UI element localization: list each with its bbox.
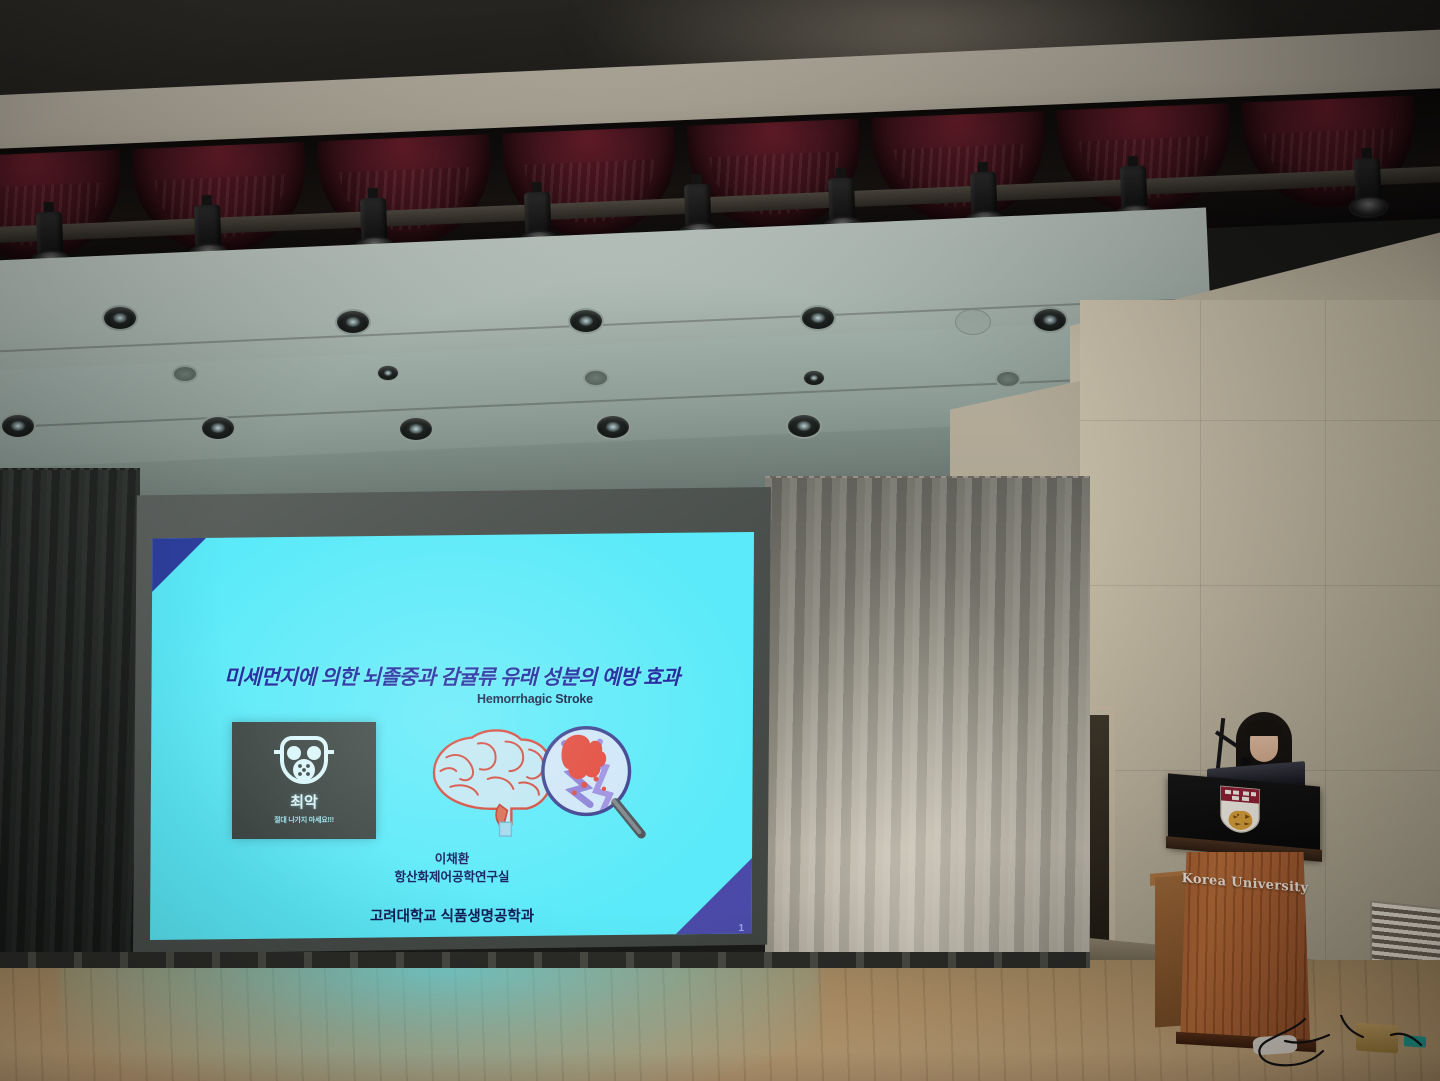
ceiling-speaker-grill xyxy=(172,365,198,383)
slide-corner-top-left xyxy=(150,532,212,594)
presenter-block: 이채환 항산화제어공학연구실 xyxy=(150,850,754,886)
korea-university-crest xyxy=(1219,784,1261,836)
presenter-name: 이채환 xyxy=(150,850,754,868)
brain-illustration xyxy=(415,714,655,842)
stage-spotlight xyxy=(1345,157,1391,220)
ceiling-downlight xyxy=(335,309,371,335)
stage-front-edge xyxy=(0,952,1090,968)
ceiling-downlight-small xyxy=(377,365,399,381)
ceiling-blank-plate xyxy=(955,309,991,335)
gas-mask-icon xyxy=(272,732,336,788)
red-valance-swag xyxy=(317,134,493,249)
lab-name: 항산화제어공학연구실 xyxy=(150,868,754,886)
projection-screen[interactable]: 1 미세먼지에 의한 뇌졸중과 감귤류 유래 성분의 예방 효과 xyxy=(150,532,754,940)
ceiling-speaker-grill xyxy=(583,369,609,387)
ceiling-downlight xyxy=(595,414,631,440)
ceiling-speaker-grill xyxy=(995,370,1021,388)
ceiling-downlight xyxy=(1032,307,1068,333)
stage-curtain-right xyxy=(765,478,1090,1008)
ceiling-downlight xyxy=(200,415,236,441)
wall-panel-seam xyxy=(1080,420,1440,421)
ceiling-downlight xyxy=(786,413,822,439)
ceiling-downlight-small xyxy=(803,370,825,386)
ceiling-downlight xyxy=(568,308,604,334)
ceiling-downlight xyxy=(398,416,434,442)
presenter-bangs xyxy=(1246,720,1282,736)
floor-cables xyxy=(1245,1015,1435,1077)
red-valance-swag xyxy=(1241,95,1417,210)
presentation-slide: 1 미세먼지에 의한 뇌졸중과 감귤류 유래 성분의 예방 효과 xyxy=(150,532,754,940)
ceiling-downlight xyxy=(0,413,36,439)
ceiling-downlight xyxy=(102,305,138,331)
department-line: 고려대학교 식품생명공학과 xyxy=(150,905,754,926)
ceiling-downlight xyxy=(800,305,836,331)
slide-title: 미세먼지에 의한 뇌졸중과 감귤류 유래 성분의 예방 효과 xyxy=(150,660,754,690)
stage-curtain-left xyxy=(0,470,140,1010)
wall-panel-seam xyxy=(1080,585,1440,586)
air-quality-sublabel: 절대 나가지 마세요!!! xyxy=(274,815,334,825)
hemorrhagic-stroke-caption: Hemorrhagic Stroke xyxy=(415,692,655,706)
air-quality-label: 최악 xyxy=(290,791,318,812)
red-valance-swag xyxy=(872,111,1048,226)
floor-screen-reflection xyxy=(60,962,820,1081)
spotlight-lens xyxy=(1348,195,1389,218)
auditorium-scene: 1 미세먼지에 의한 뇌졸중과 감귤류 유래 성분의 예방 효과 xyxy=(0,0,1440,1081)
air-quality-warning-card: 최악 절대 나가지 마세요!!! xyxy=(232,722,376,839)
hemorrhagic-stroke-figure: Hemorrhagic Stroke xyxy=(415,692,655,842)
